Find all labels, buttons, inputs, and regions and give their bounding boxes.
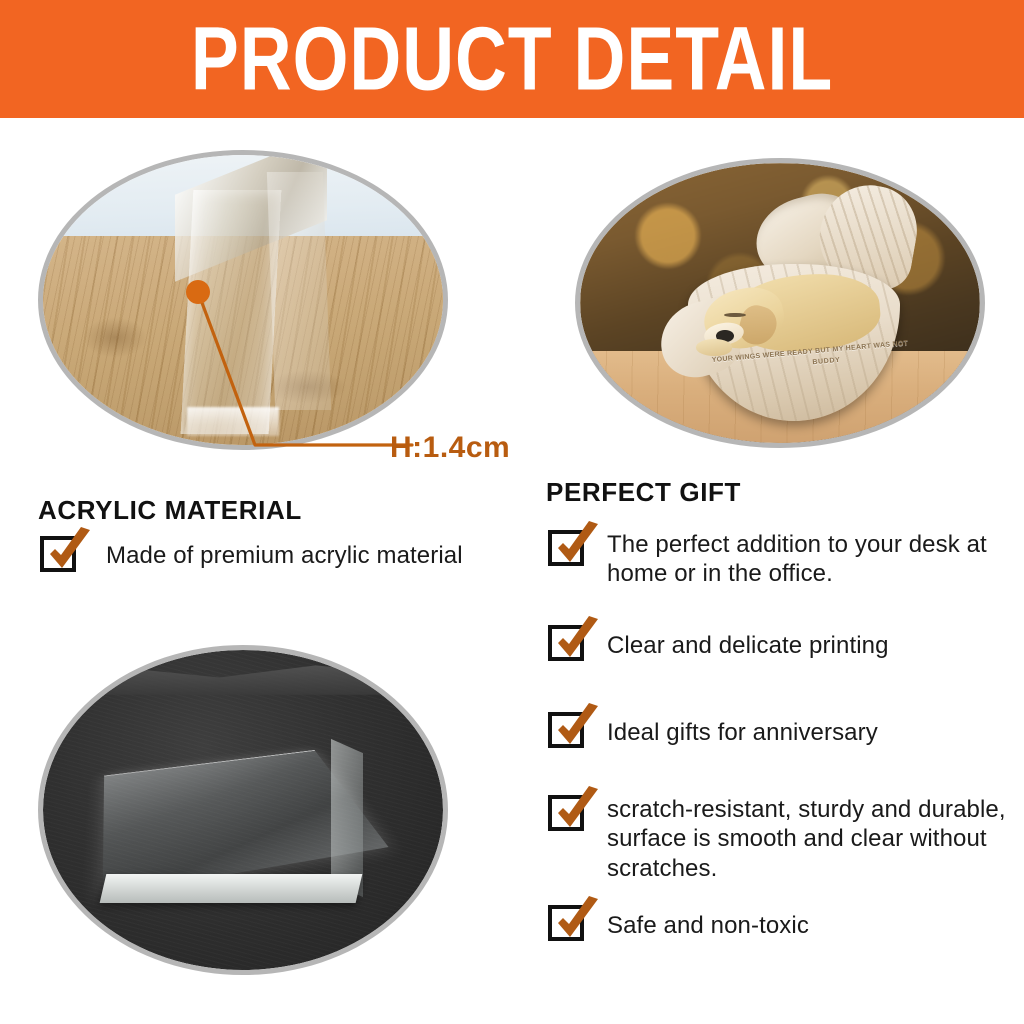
check-glyph [40,526,94,578]
list-item-label: Ideal gifts for anniversary [607,718,878,747]
check-glyph [548,520,602,572]
checkmark-icon [548,528,588,568]
product-detail-banner: PRODUCT DETAIL [0,0,1024,118]
list-item: The perfect addition to your desk at hom… [548,528,1018,589]
section-heading-perfect-gift: PERFECT GIFT [546,477,741,508]
check-glyph [548,702,602,754]
list-item: scratch-resistant, sturdy and durable, s… [548,793,1018,883]
height-callout-leader [150,265,420,465]
callout-line [198,292,412,445]
list-item-label: Safe and non-toxic [607,911,809,940]
checkmark-icon [548,793,588,833]
checkmark-icon [548,623,588,663]
photo-dog-memorial-content: YOUR WINGS WERE READY BUT MY HEART WAS N… [580,163,980,443]
photo-acrylic-flat [38,645,448,975]
check-glyph [548,785,602,837]
list-item-label: scratch-resistant, sturdy and durable, s… [607,795,1018,883]
photo-acrylic-flat-content [43,650,443,970]
callout-dot [186,280,210,304]
check-glyph [548,895,602,947]
checkmark-icon [548,903,588,943]
wood-knot [83,317,147,358]
check-glyph [548,615,602,667]
height-callout-label: H:1.4cm [390,431,510,465]
list-item-label: Clear and delicate printing [607,631,889,660]
checkmark-icon [40,534,80,574]
list-item: Made of premium acrylic material [40,534,520,574]
list-item-label: Made of premium acrylic material [106,541,463,570]
list-item-label: The perfect addition to your desk at hom… [607,530,1018,589]
list-item: Clear and delicate printing [548,623,1018,663]
acrylic-block-front-edge [100,874,363,903]
checkmark-icon [548,710,588,750]
photo-dog-memorial: YOUR WINGS WERE READY BUT MY HEART WAS N… [575,158,985,448]
page-title: PRODUCT DETAIL [191,14,833,104]
list-item: Safe and non-toxic [548,903,1018,943]
section-heading-acrylic-material: ACRYLIC MATERIAL [38,495,302,526]
list-item: Ideal gifts for anniversary [548,710,1018,750]
